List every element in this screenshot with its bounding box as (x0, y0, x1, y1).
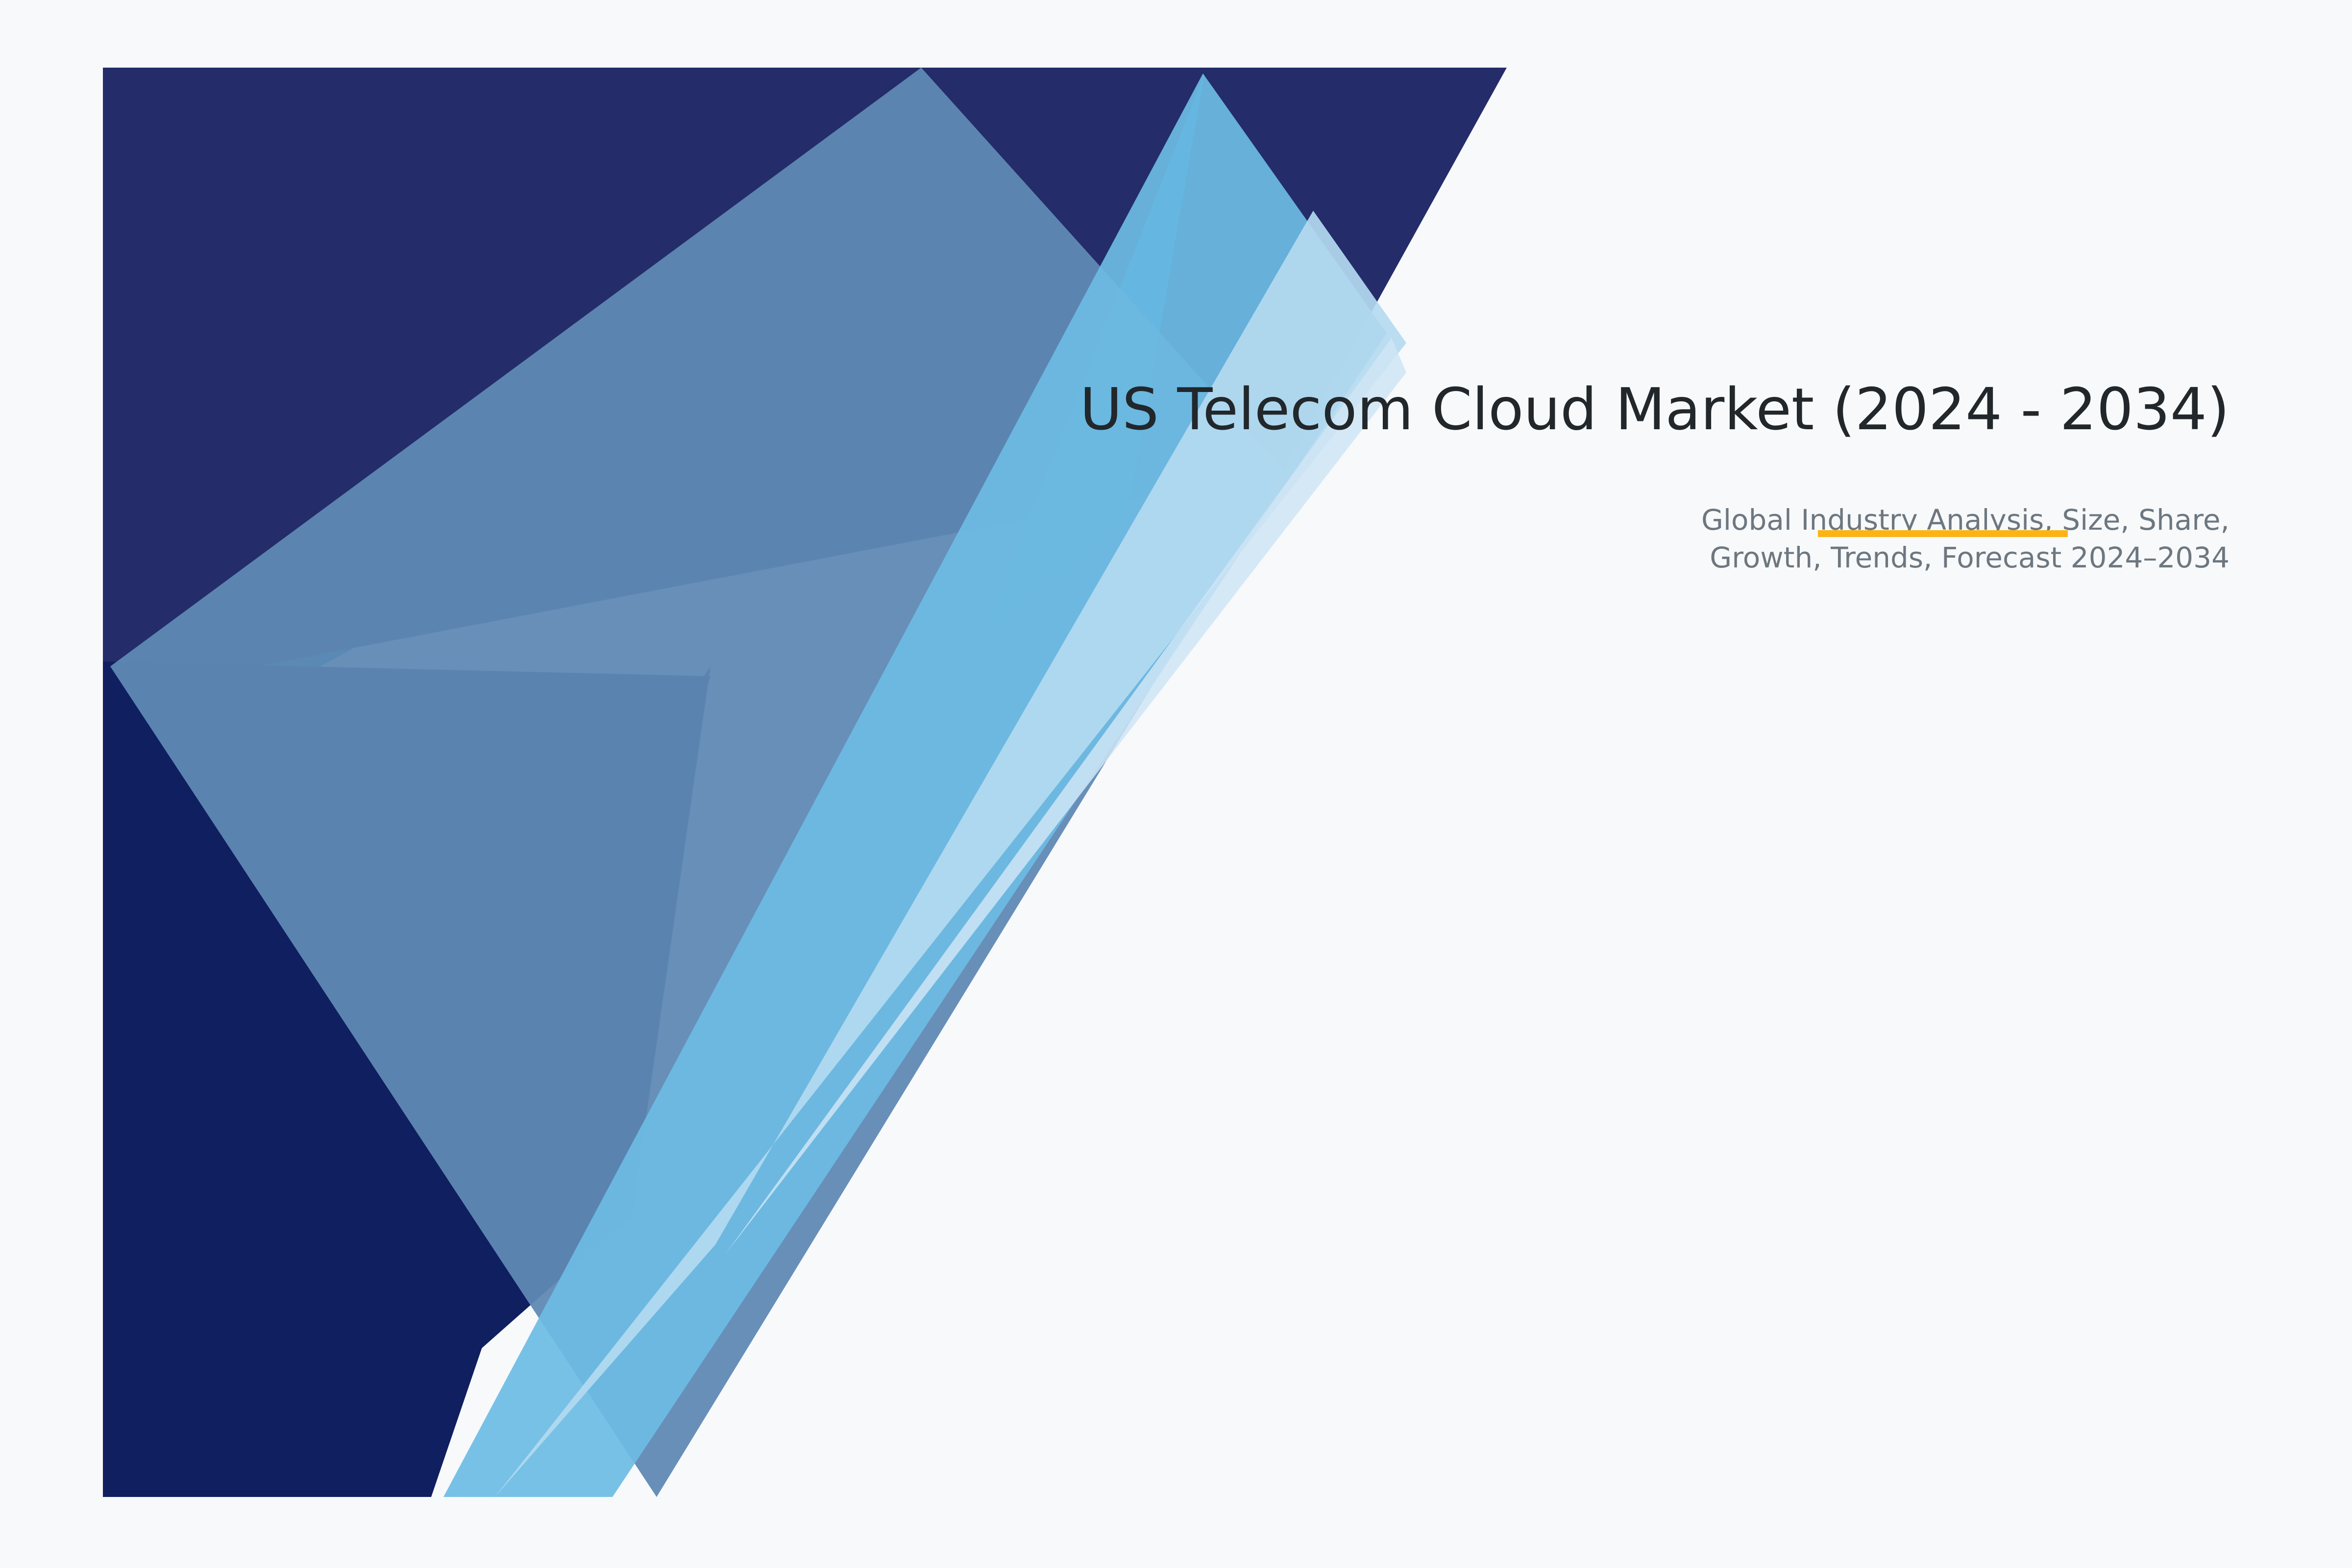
title-accent-underline (1818, 530, 2068, 537)
decorative-polygon-artwork (0, 0, 2352, 1568)
shape-deep-navy-left (103, 661, 710, 1497)
title-wrapper: US Telecom Cloud Market (2024 - 2034) (931, 372, 2229, 446)
title-text-block: US Telecom Cloud Market (2024 - 2034) Gl… (931, 372, 2229, 577)
shape-slate-quad (110, 68, 1284, 1497)
page-title: US Telecom Cloud Market (2024 - 2034) (931, 372, 2229, 446)
slide-canvas: US Telecom Cloud Market (2024 - 2034) Gl… (0, 0, 2352, 1568)
artwork-shape-group (103, 68, 1507, 1497)
shape-deep-navy-spike (314, 666, 710, 1497)
page-subtitle: Global Industry Analysis, Size, Share, G… (1592, 446, 2229, 577)
shape-mid-cyan-beam (443, 73, 1387, 1497)
